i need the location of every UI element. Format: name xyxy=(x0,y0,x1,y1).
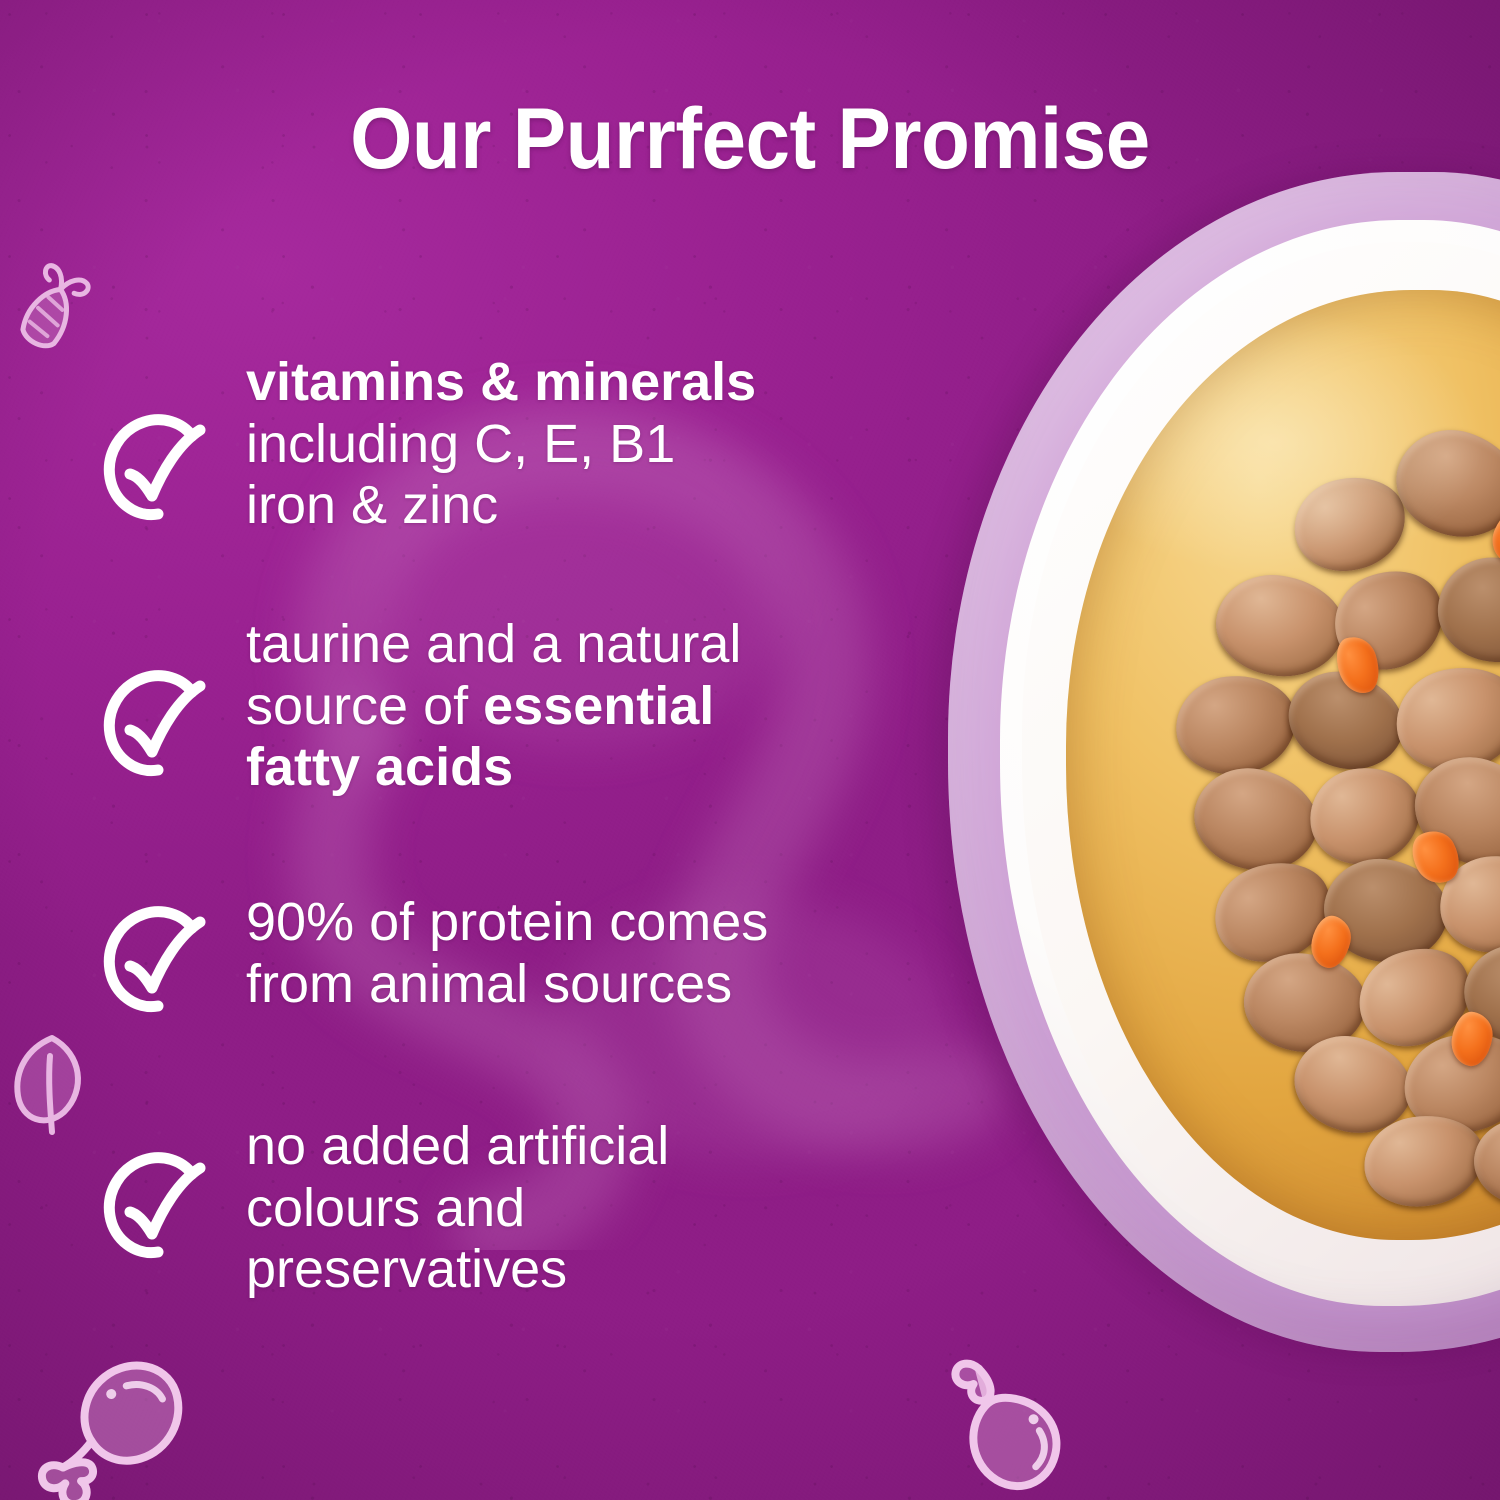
promise-line: 90% of protein comes xyxy=(246,892,768,952)
promise-line: including C, E, B1 xyxy=(246,414,675,474)
promise-line: no added artificial xyxy=(246,1116,669,1176)
promise-item-vitamins: vitamins & minerals including C, E, B1 i… xyxy=(96,352,756,537)
check-circle-icon xyxy=(96,902,224,1020)
promise-item-protein: 90% of protein comes from animal sources xyxy=(96,892,768,1020)
promise-item-no-artificial: no added artificial colours and preserva… xyxy=(96,1116,669,1301)
promise-line: taurine and a natural xyxy=(246,614,741,674)
promise-text: 90% of protein comes from animal sources xyxy=(246,892,768,1015)
check-circle-icon xyxy=(96,666,224,784)
promise-panel: Our Purrfect Promise vitamins & minerals… xyxy=(0,0,1500,1500)
promise-text: no added artificial colours and preserva… xyxy=(246,1116,669,1301)
promise-text: vitamins & minerals including C, E, B1 i… xyxy=(246,352,756,537)
promise-line: from animal sources xyxy=(246,954,732,1014)
promise-line: source of xyxy=(246,676,483,736)
check-circle-icon xyxy=(96,410,224,528)
promise-line-bold: essential xyxy=(483,676,714,736)
check-circle-icon xyxy=(96,1148,224,1266)
promise-text: taurine and a natural source of essentia… xyxy=(246,614,741,799)
promise-line: colours and xyxy=(246,1178,525,1238)
promise-line: iron & zinc xyxy=(246,475,498,535)
page-title: Our Purrfect Promise xyxy=(53,96,1448,182)
promise-line: fatty acids xyxy=(246,737,513,797)
promise-line: vitamins & minerals xyxy=(246,352,756,412)
promise-line: preservatives xyxy=(246,1239,567,1299)
promise-item-taurine: taurine and a natural source of essentia… xyxy=(96,614,741,799)
